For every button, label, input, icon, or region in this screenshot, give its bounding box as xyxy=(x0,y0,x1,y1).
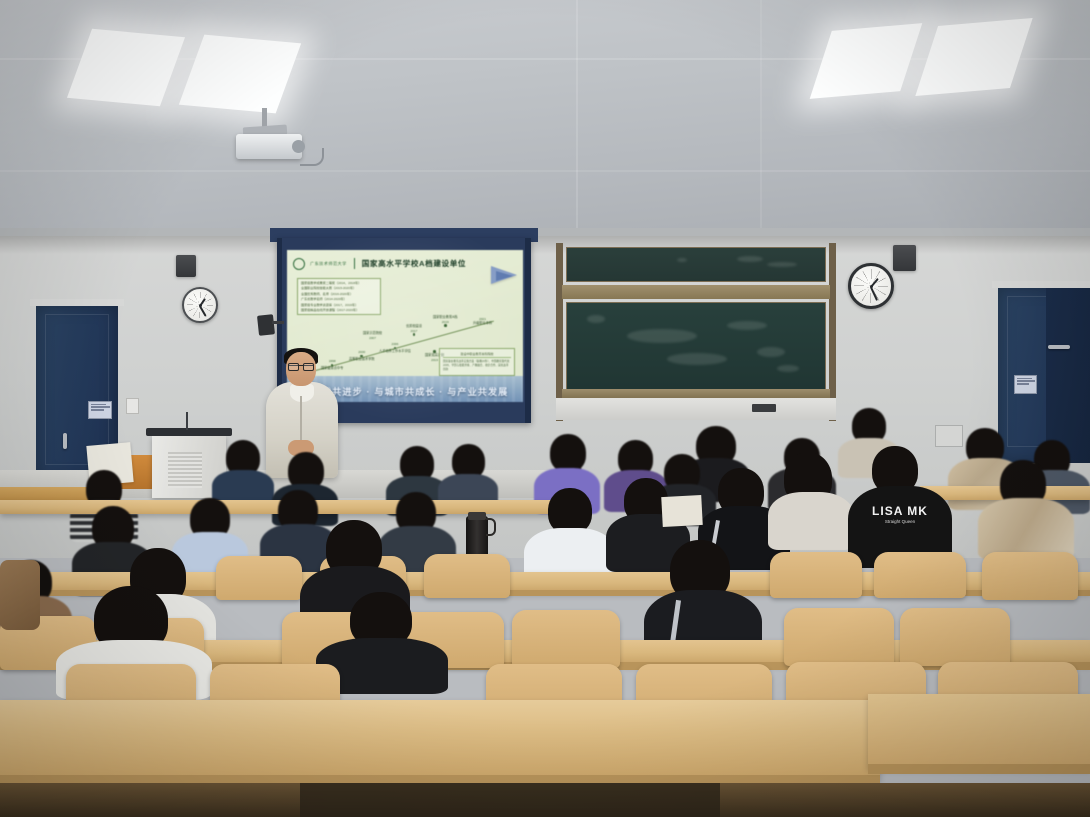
door-right[interactable] xyxy=(998,287,1090,463)
paper-plane-fold-icon xyxy=(496,271,513,281)
chair-back xyxy=(982,552,1078,600)
door-lintel-left xyxy=(30,299,124,306)
wall-mounted-speaker xyxy=(257,314,275,336)
thermos-handle xyxy=(486,518,496,536)
wall-outlet-box xyxy=(935,425,963,447)
timeline-milestone: 1998 国家级重点中专 xyxy=(321,359,343,371)
chair-back xyxy=(770,552,862,598)
speaker-bracket xyxy=(272,321,284,324)
milestone-dot-icon xyxy=(444,324,447,327)
lectern-panel xyxy=(168,452,202,488)
milestone-year: 2017 xyxy=(406,329,422,333)
timeline-milestone: 2006 人才培养工作水平评估 xyxy=(379,342,411,354)
door-handle-left[interactable] xyxy=(63,433,67,449)
shirt-subtext: Straight Queen xyxy=(848,519,952,524)
timeline-milestone: 2000 高等职业技术学院 xyxy=(349,350,375,362)
screen-edge-right xyxy=(525,238,531,423)
light-switch[interactable] xyxy=(126,398,139,414)
handbag xyxy=(0,560,40,630)
lectern-top xyxy=(146,428,232,436)
front-desk-right xyxy=(868,694,1090,768)
blackboard-panel-main xyxy=(566,302,826,390)
slide-header: 广东技术师范大学 国家高水平学校A档建设单位 xyxy=(293,255,517,272)
milestone-year: 2007 xyxy=(363,336,382,340)
milestone-label: 国家示范院校 xyxy=(363,331,382,336)
ceiling-seam xyxy=(760,0,762,230)
door-panel xyxy=(45,314,109,465)
notebook[interactable] xyxy=(661,495,703,527)
front-desk xyxy=(0,700,880,780)
slide-highlight-box: 国家级教学成果奖二等奖（2014、2018年） 全国职业院校技能大赛（2015-… xyxy=(297,278,381,315)
milestone-dot-icon xyxy=(413,333,416,336)
blackboard-eraser[interactable] xyxy=(752,404,776,412)
lecture-hall-photo: 广东技术师范大学 国家高水平学校A档建设单位 国家级教学成果奖二等奖（2014、… xyxy=(0,0,1090,817)
front-desk-edge xyxy=(868,764,1090,774)
chair-back xyxy=(424,554,510,598)
presentation-slide: 广东技术师范大学 国家高水平学校A档建设单位 国家级教学成果奖二等奖（2014、… xyxy=(287,250,523,402)
door-lintel-right xyxy=(992,281,1090,288)
door-sign-left xyxy=(88,401,112,419)
chair-back xyxy=(512,610,620,668)
slide-title: 国家高水平学校A档建设单位 xyxy=(362,258,466,269)
chair-back xyxy=(900,608,1010,666)
timeline-milestone: 国家示范院校 2007 xyxy=(363,331,382,340)
door-handle-right[interactable] xyxy=(1048,345,1070,349)
blackboard-frame-right xyxy=(829,243,836,421)
lectern-microphone-icon xyxy=(186,412,188,430)
wall-speaker-left xyxy=(176,255,196,277)
wall-trim xyxy=(0,228,1090,236)
milestone-year: 1998 xyxy=(321,359,343,363)
thermos-lid xyxy=(468,512,486,520)
chair-back xyxy=(216,556,302,600)
glasses-lens-right xyxy=(303,363,314,371)
divider xyxy=(354,258,355,269)
university-name: 广东技术师范大学 xyxy=(310,261,347,267)
door-sign-right xyxy=(1014,375,1037,394)
projector-cable xyxy=(300,148,324,166)
milestone-year: 2000 xyxy=(349,350,375,354)
door-right-leaf[interactable] xyxy=(1046,287,1090,463)
wall-clock-right xyxy=(848,263,894,309)
timeline-milestone: 优质校建设 2017 xyxy=(406,324,422,336)
ceiling-seam xyxy=(576,0,578,230)
wall-clock-left xyxy=(182,287,218,323)
presenter-collar xyxy=(290,384,314,402)
university-crest-icon xyxy=(293,258,305,270)
chair-back xyxy=(874,552,966,598)
slide-note-box: 建设中职业教育本科院校 国家职业教育改革实施方案（职教20条）、中国教育现代化2… xyxy=(439,348,515,376)
shirt-text: LISA MK xyxy=(848,504,952,518)
blackboard-panel-upper xyxy=(566,247,826,282)
wall-speaker-right xyxy=(893,245,916,271)
milestone-label: 升级职业本科 xyxy=(473,321,492,326)
milestone-year: 2019 xyxy=(433,320,457,324)
milestone-year: 2006 xyxy=(379,342,411,346)
clock-center-pin xyxy=(199,304,202,307)
milestone-label: 高等职业技术学院 xyxy=(349,357,375,362)
highlight-list: 国家级教学成果奖二等奖（2014、2018年） 全国职业院校技能大赛（2015-… xyxy=(301,281,377,313)
under-desk-shadow xyxy=(300,783,720,817)
note-title: 建设中职业教育本科院校 xyxy=(443,352,511,358)
blackboard-ledge xyxy=(556,398,836,420)
timeline-milestone: 2021 升级职业本科 xyxy=(473,317,492,326)
clock-center-pin xyxy=(870,285,873,288)
blackboard-rail[interactable] xyxy=(562,285,830,299)
ceiling-seam xyxy=(0,170,1090,172)
milestone-label: 人才培养工作水平评估 xyxy=(379,349,411,354)
milestone-label: 国家级重点中专 xyxy=(321,366,343,371)
chair-back xyxy=(784,608,894,666)
glasses-lens-left xyxy=(288,363,299,371)
wall-shadow xyxy=(0,236,1090,254)
note-body: 国家职业教育改革实施方案（职教20条）、中国教育现代化2035、学历与技能并重、… xyxy=(443,360,511,372)
timeline-milestone: 国家职业教育A档 2019 xyxy=(433,315,457,327)
